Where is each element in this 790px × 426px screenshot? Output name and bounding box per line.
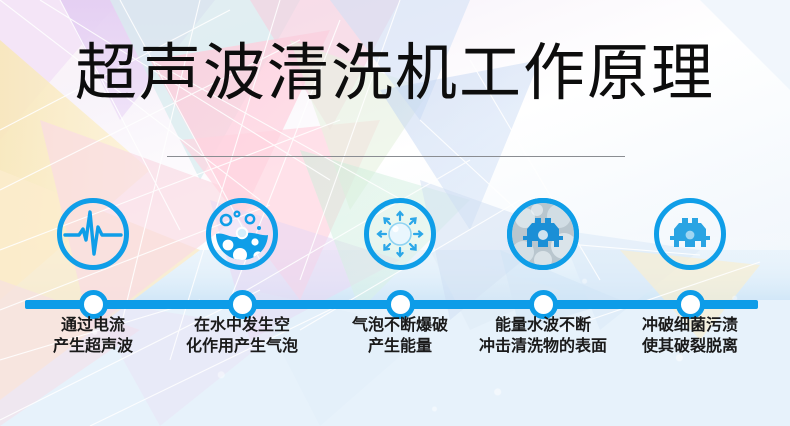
step-5-line-1: 冲破细菌污渍 [612,314,768,335]
step-2[interactable]: 在水中发生空 化作用产生气泡 [164,198,320,356]
step-3-line-2: 产生能量 [322,335,478,356]
step-4-line-2: 冲击清洗物的表面 [465,335,621,356]
title-divider [167,156,625,157]
step-5-line-2: 使其破裂脱离 [612,335,768,356]
step-5-caption: 冲破细菌污渍 使其破裂脱离 [612,314,768,356]
step-5-icon [654,198,726,270]
bubbles-beaker-icon [206,198,278,270]
waveform-pulse-icon [57,198,129,270]
step-4-caption: 能量水波不断 冲击清洗物的表面 [465,314,621,356]
step-2-caption: 在水中发生空 化作用产生气泡 [164,314,320,356]
step-1-icon [57,198,129,270]
step-2-line-1: 在水中发生空 [164,314,320,335]
step-1-line-2: 产生超声波 [15,335,171,356]
step-4-line-1: 能量水波不断 [465,314,621,335]
valve-part-clean-icon [654,198,726,270]
step-1[interactable]: 通过电流 产生超声波 [15,198,171,356]
poster-canvas: 超声波清洗机工作原理 通过电流 产生超声波 [0,0,790,426]
step-3-line-1: 气泡不断爆破 [322,314,478,335]
step-1-line-1: 通过电流 [15,314,171,335]
step-4-icon [507,198,579,270]
step-1-caption: 通过电流 产生超声波 [15,314,171,356]
page-title: 超声波清洗机工作原理 [0,36,790,110]
step-3-caption: 气泡不断爆破 产生能量 [322,314,478,356]
step-3-icon [364,198,436,270]
step-5[interactable]: 冲破细菌污渍 使其破裂脱离 [612,198,768,356]
step-4[interactable]: 能量水波不断 冲击清洗物的表面 [465,198,621,356]
step-3[interactable]: 气泡不断爆破 产生能量 [322,198,478,356]
step-2-line-2: 化作用产生气泡 [164,335,320,356]
valve-part-water-icon [507,198,579,270]
bubble-burst-icon [364,198,436,270]
step-2-icon [206,198,278,270]
